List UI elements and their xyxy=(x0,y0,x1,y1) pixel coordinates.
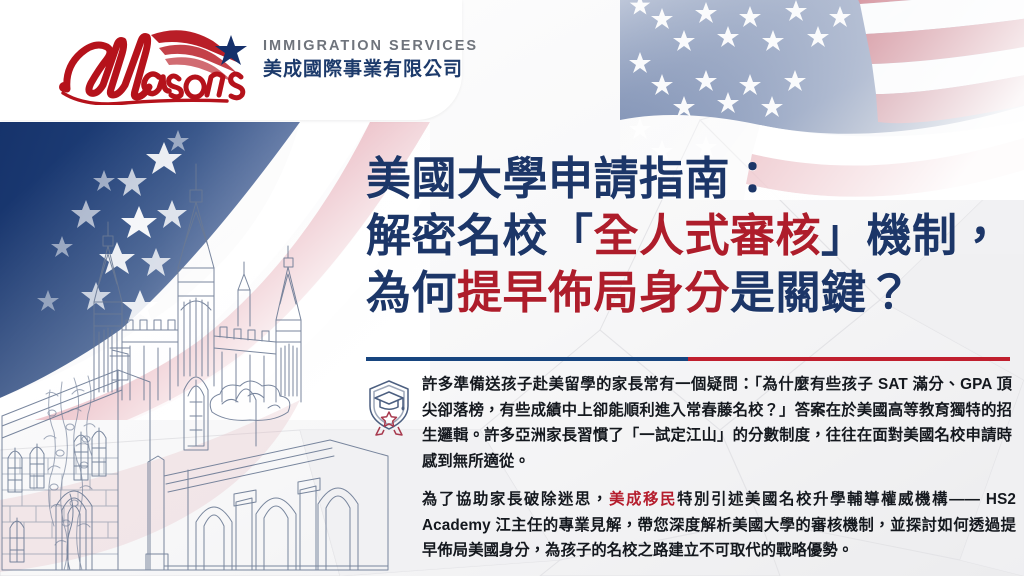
title-line2-suffix: 」機制， xyxy=(821,210,1003,261)
title-line3-highlight: 提早佈局身分 xyxy=(457,267,730,318)
shield-graduation-cap-icon xyxy=(366,378,412,438)
paragraph-1: 許多準備送孩子赴美留學的家長常有一個疑問：「為什麼有些孩子 SAT 滿分、GPA… xyxy=(422,372,1012,474)
brand-tagline-en: IMMIGRATION SERVICES xyxy=(263,38,478,55)
masons-script-logo xyxy=(55,15,255,105)
paragraph-1-row: 許多準備送孩子赴美留學的家長常有一個疑問：「為什麼有些孩子 SAT 滿分、GPA… xyxy=(366,372,1014,474)
title-line2-highlight: 全人式審核 xyxy=(594,210,822,261)
brand-logo[interactable]: IMMIGRATION SERVICES 美成國際事業有限公司 xyxy=(0,0,462,120)
paragraph-2-highlight: 美成移民 xyxy=(609,491,677,508)
title-line-2: 解密名校「全人式審核」機制， xyxy=(366,207,986,264)
brand-tagline-zh: 美成國際事業有限公司 xyxy=(263,59,478,81)
divider-navy-half xyxy=(366,357,688,361)
divider-red-half xyxy=(688,357,1010,361)
paragraph-2-pre: 為了協助家長破除迷思， xyxy=(422,491,609,508)
title-line2-prefix: 解密名校「 xyxy=(366,210,594,261)
gothic-campus-line-art-icon xyxy=(0,150,390,576)
title-line3-suffix: 是關鍵？ xyxy=(730,267,912,318)
poster-canvas: IMMIGRATION SERVICES 美成國際事業有限公司 美國大學申請指南… xyxy=(0,0,1024,576)
title-line-1: 美國大學申請指南： xyxy=(366,150,986,207)
title-line3-prefix: 為何 xyxy=(366,267,457,318)
paragraph-2: 為了協助家長破除迷思，美成移民特別引述美國名校升學輔導權威機構—— HS2 Ac… xyxy=(422,487,1016,564)
title-line1-text: 美國大學申請指南： xyxy=(366,153,776,204)
body-copy: 許多準備送孩子赴美留學的家長常有一個疑問：「為什麼有些孩子 SAT 滿分、GPA… xyxy=(366,372,1014,564)
title-line-3: 為何提早佈局身分是關鍵？ xyxy=(366,264,986,321)
page-title: 美國大學申請指南： 解密名校「全人式審核」機制， 為何提早佈局身分是關鍵？ xyxy=(366,150,986,321)
title-divider xyxy=(366,357,1010,361)
